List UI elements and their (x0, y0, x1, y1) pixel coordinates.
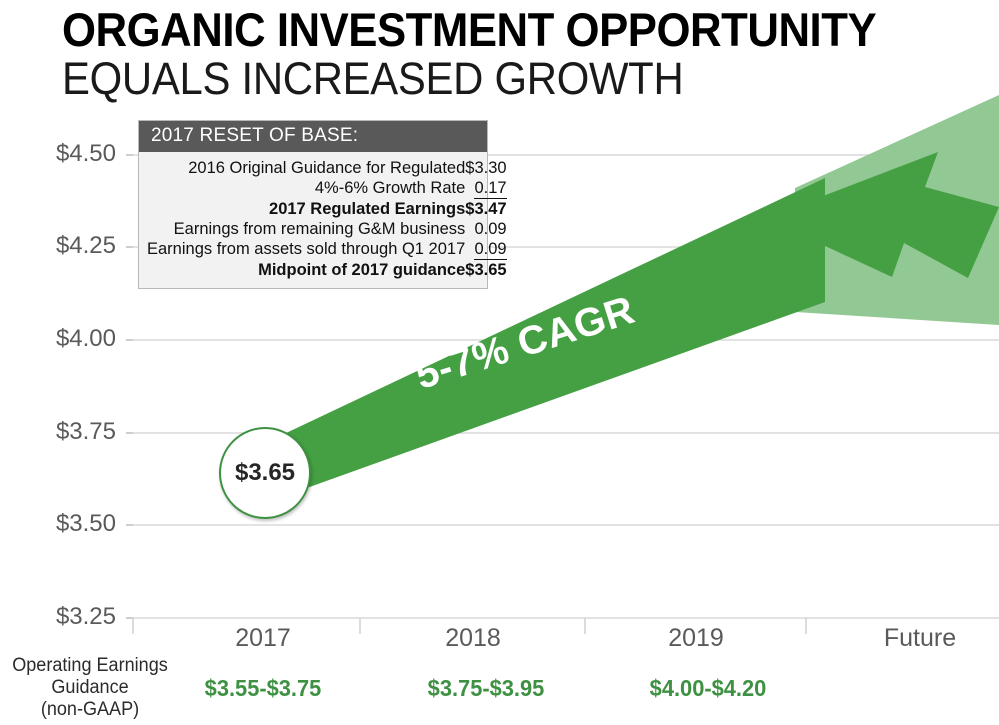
guidance-row: Operating Earnings Guidance (non-GAAP) $… (0, 655, 999, 725)
callout-row-label: Earnings from remaining G&M business (147, 219, 465, 239)
anchor-value-label: $3.65 (235, 459, 295, 487)
y-tick-label-350: $3.50 (30, 510, 116, 538)
callout-row-label: 4%-6% Growth Rate (147, 178, 465, 199)
guidance-caption: Operating Earnings Guidance (non-GAAP) (5, 655, 176, 721)
callout-row-value: 0.09 (465, 239, 506, 260)
callout-row-label: Earnings from assets sold through Q1 201… (147, 239, 465, 260)
callout-row-value-text: 0.09 (474, 240, 506, 260)
callout-row: 2016 Original Guidance for Regulated $3.… (147, 158, 507, 178)
callout-row: Earnings from remaining G&M business 0.0… (147, 219, 507, 239)
callout-row-label: 2016 Original Guidance for Regulated (147, 158, 465, 178)
guidance-value-2017: $3.55-$3.75 (187, 675, 339, 702)
anchor-value-marker: $3.65 (219, 427, 311, 519)
callout-row-value: $3.30 (465, 158, 506, 178)
slide-canvas: ORGANIC INVESTMENT OPPORTUNITY EQUALS IN… (0, 0, 999, 725)
y-tick-label-450: $4.50 (30, 140, 116, 168)
callout-row-value: $3.65 (465, 260, 506, 280)
guidance-caption-line1: Operating Earnings (5, 655, 176, 677)
callout-row-label: Midpoint of 2017 guidance (147, 260, 465, 280)
callout-row-value-text: 0.17 (474, 179, 506, 199)
callout-row-value: 0.09 (465, 219, 506, 239)
reset-of-base-callout: 2017 RESET OF BASE: 2016 Original Guidan… (138, 120, 488, 289)
callout-row: 4%-6% Growth Rate 0.17 (147, 178, 507, 199)
guidance-caption-line3: (non-GAAP) (5, 699, 176, 721)
callout-row: 2017 Regulated Earnings $3.47 (147, 199, 507, 219)
guidance-value-2019: $4.00-$4.20 (632, 675, 784, 702)
x-tick-label-2017: 2017 (183, 624, 343, 653)
callout-table: 2016 Original Guidance for Regulated $3.… (147, 158, 507, 280)
callout-row: Earnings from assets sold through Q1 201… (147, 239, 507, 260)
y-tick-label-425: $4.25 (30, 232, 116, 260)
x-tick-label-2019: 2019 (616, 624, 776, 653)
y-axis-ticks (126, 155, 133, 618)
y-tick-label-375: $3.75 (30, 418, 116, 446)
y-axis: $4.50 $4.25 $4.00 $3.75 $3.50 $3.25 (30, 0, 116, 725)
callout-row: Midpoint of 2017 guidance $3.65 (147, 260, 507, 280)
guidance-caption-line2: Guidance (5, 677, 176, 699)
x-tick-label-future: Future (840, 624, 999, 653)
callout-header: 2017 RESET OF BASE: (139, 121, 487, 152)
callout-row-value: $3.47 (465, 199, 506, 219)
guidance-value-2018: $3.75-$3.95 (410, 675, 562, 702)
x-tick-label-2018: 2018 (393, 624, 553, 653)
callout-row-value: 0.17 (465, 178, 506, 199)
callout-row-label: 2017 Regulated Earnings (147, 199, 465, 219)
callout-body: 2016 Original Guidance for Regulated $3.… (139, 152, 487, 288)
y-tick-label-400: $4.00 (30, 325, 116, 353)
